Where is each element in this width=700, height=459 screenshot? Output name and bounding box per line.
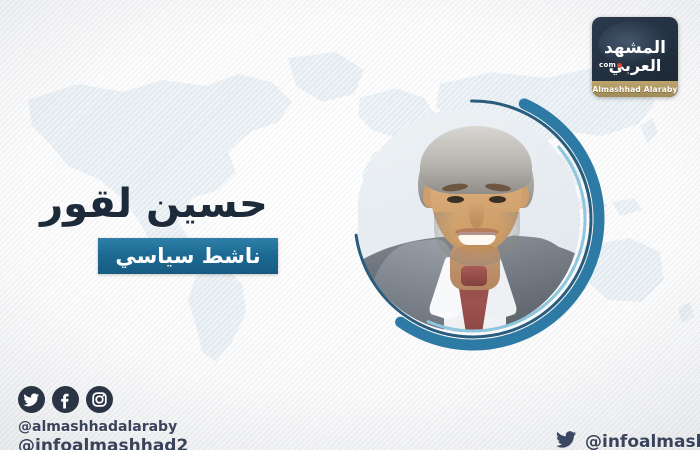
twitter-icon[interactable] xyxy=(18,386,45,413)
logo-tagline-bar: Almashhad Alaraby xyxy=(592,81,678,97)
bottom-strip xyxy=(0,450,700,459)
logo-dot-icon xyxy=(617,63,622,68)
logo-tagline: Almashhad Alaraby xyxy=(592,85,677,94)
handle-primary[interactable]: @almashhadalaraby xyxy=(18,419,188,436)
promo-card: حسين لقور ناشط سياسي المشهد العربي com A… xyxy=(0,0,700,459)
instagram-icon[interactable] xyxy=(86,386,113,413)
social-block: @almashhadalaraby @infoalmashhad2 xyxy=(18,386,188,456)
portrait-frame xyxy=(342,88,604,350)
logo-com-label: com xyxy=(599,61,616,69)
social-icon-row xyxy=(18,386,188,413)
page-title: حسين لقور xyxy=(16,184,292,224)
facebook-icon[interactable] xyxy=(52,386,79,413)
logo-text-line1: المشهد xyxy=(592,40,678,57)
footer-handle[interactable]: @infoalmashhad2 xyxy=(585,432,700,452)
brand-logo[interactable]: المشهد العربي com Almashhad Alaraby xyxy=(592,17,678,97)
role-badge: ناشط سياسي xyxy=(98,238,278,274)
decorative-ring xyxy=(342,88,604,350)
